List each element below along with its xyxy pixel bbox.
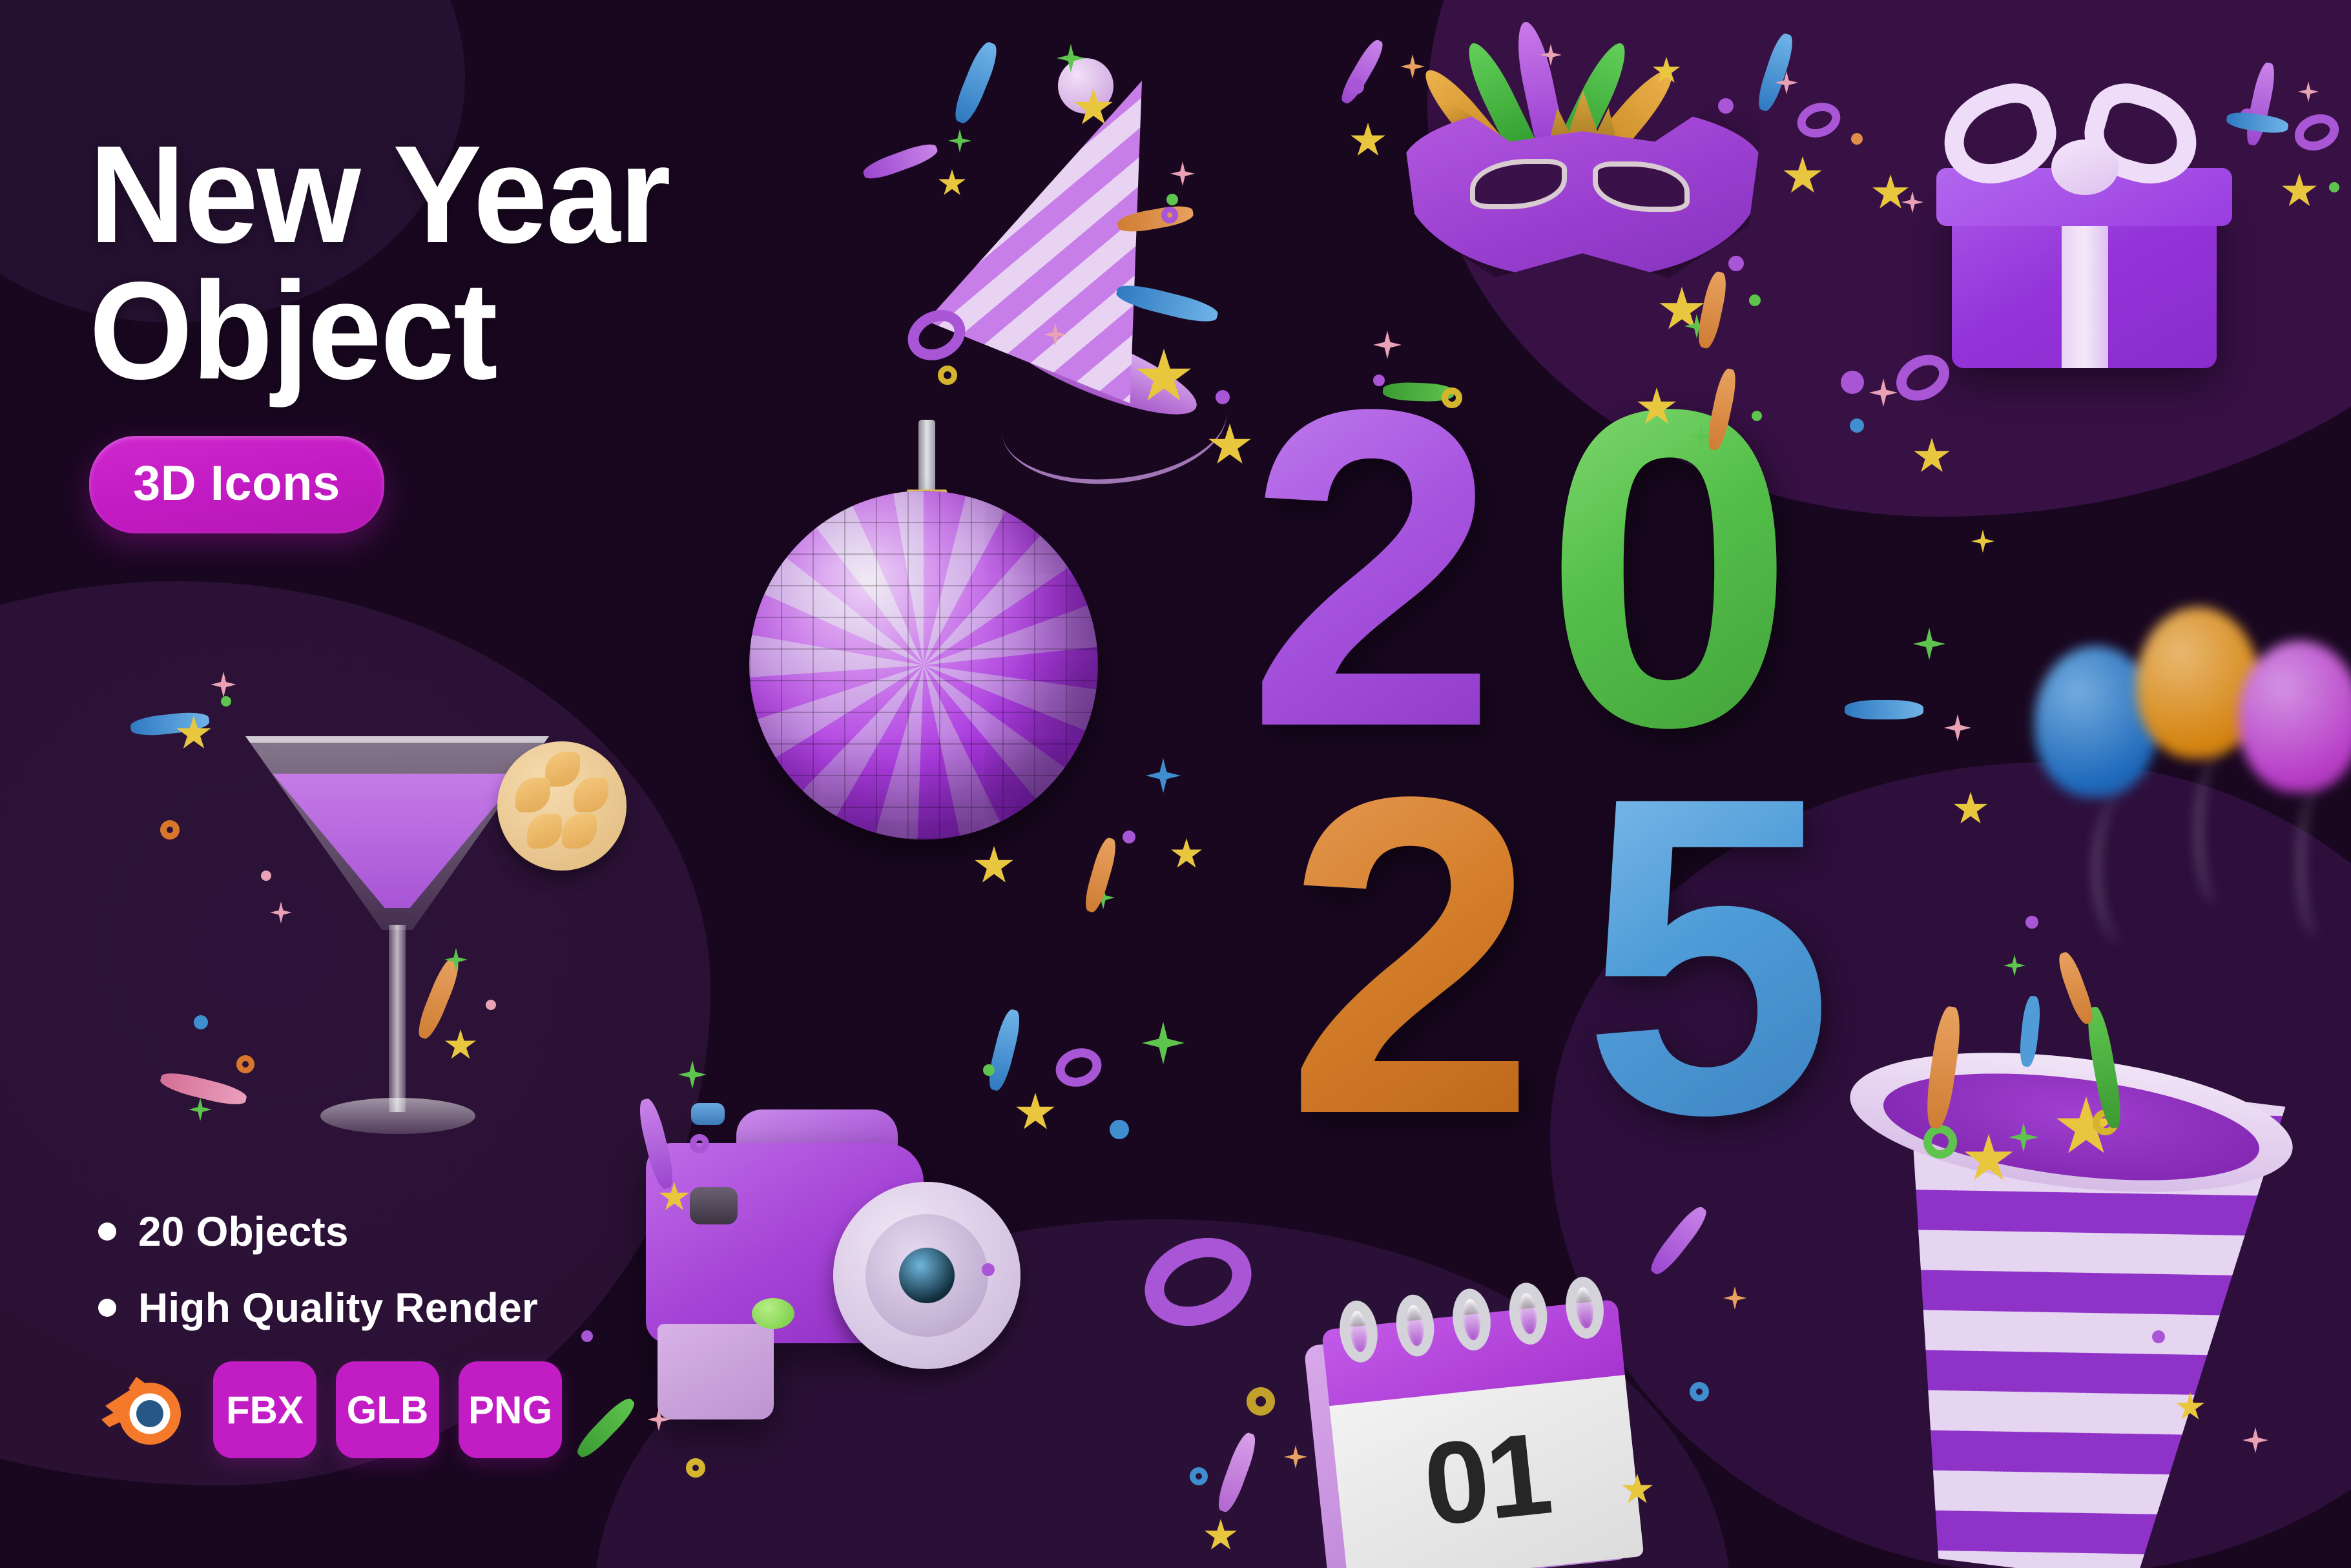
bullet-dot-icon xyxy=(98,1222,116,1241)
poster-canvas: New Year Object 3D Icons 20 Objects High… xyxy=(0,0,2351,1568)
balloon-digit-5-blue: 5 xyxy=(1582,730,1834,1182)
cocktail-liquid xyxy=(273,774,522,908)
cocktail-glass-icon xyxy=(213,697,614,1201)
hero-text-block: New Year Object 3D Icons xyxy=(89,127,1058,533)
format-badge-fbx[interactable]: FBX xyxy=(213,1361,316,1458)
masquerade-mask-icon xyxy=(1376,6,1789,304)
3d-icons-badge[interactable]: 3D Icons xyxy=(89,436,384,533)
feature-list: 20 Objects High Quality Render xyxy=(98,1208,538,1360)
format-badge-row: FBX GLB PNG xyxy=(90,1361,562,1458)
orange-slice-garnish-icon xyxy=(497,741,627,871)
camera-icon xyxy=(639,1072,1040,1408)
bullet-dot-icon xyxy=(98,1299,116,1317)
balloon-purple xyxy=(2239,641,2351,792)
balloons-icon xyxy=(2028,581,2351,943)
calendar-day-number: 01 xyxy=(1330,1380,1643,1568)
disco-ball-sphere xyxy=(749,491,1098,840)
gift-box-icon xyxy=(1925,71,2261,394)
list-item: 20 Objects xyxy=(98,1208,538,1255)
format-badge-png[interactable]: PNG xyxy=(459,1361,562,1458)
cocktail-glass-stem xyxy=(389,925,406,1112)
party-popper-icon xyxy=(1802,988,2351,1568)
camera-green-button xyxy=(752,1298,794,1329)
feature-label: 20 Objects xyxy=(138,1208,349,1255)
camera-shutter-dial xyxy=(690,1187,738,1224)
gift-bow-knot xyxy=(2051,139,2118,195)
camera-grip-panel xyxy=(658,1324,774,1419)
balloon-digit-2-orange: 2 xyxy=(1285,730,1537,1182)
list-item: High Quality Render xyxy=(98,1284,538,1332)
page-title: New Year Object xyxy=(89,127,1019,398)
camera-lens-glass xyxy=(899,1248,955,1303)
camera-lens-barrel xyxy=(833,1182,1020,1369)
calendar-icon: 01 xyxy=(1283,1251,1675,1568)
camera-lens-inner xyxy=(865,1214,988,1337)
title-line-1: New Year xyxy=(89,116,670,272)
format-badge-glb[interactable]: GLB xyxy=(336,1361,439,1458)
feature-label: High Quality Render xyxy=(138,1284,538,1332)
camera-mode-dial-top xyxy=(691,1103,725,1125)
title-line-2: Object xyxy=(89,263,1019,399)
blender-logo-icon xyxy=(90,1361,194,1458)
